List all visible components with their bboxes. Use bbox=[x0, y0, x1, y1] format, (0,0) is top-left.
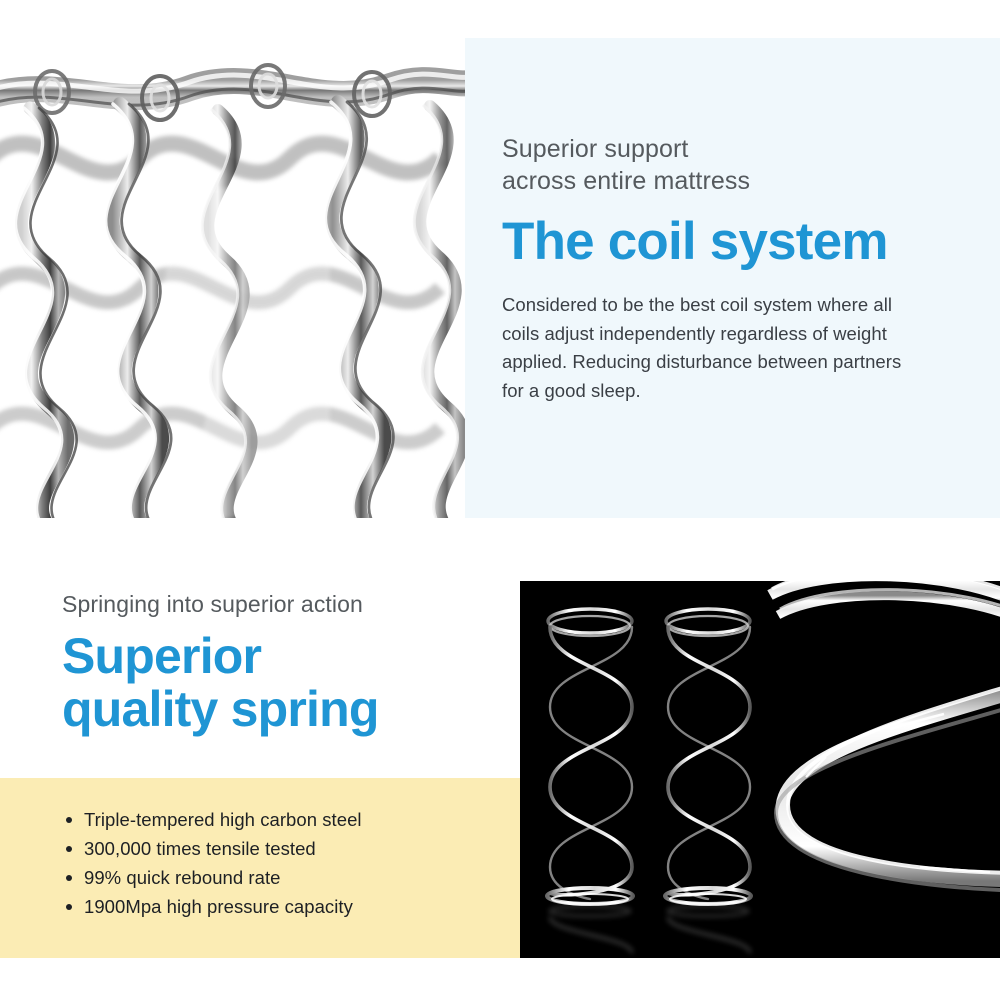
coil-system-copy: Superior support across entire mattress … bbox=[502, 133, 962, 405]
coil-system-section: Superior support across entire mattress … bbox=[0, 38, 1000, 518]
quality-spring-headline: Superior quality spring bbox=[62, 630, 502, 736]
coil-system-description: Considered to be the best coil system wh… bbox=[502, 291, 902, 405]
spring-photo-black bbox=[520, 581, 1000, 958]
coil-system-text-panel: Superior support across entire mattress … bbox=[465, 38, 1000, 518]
coil-system-headline: The coil system bbox=[502, 213, 962, 271]
list-item: 1900Mpa high pressure capacity bbox=[62, 892, 502, 921]
product-feature-graphic: Superior support across entire mattress … bbox=[0, 0, 1000, 1000]
coil-system-photo bbox=[0, 38, 465, 518]
list-item: 99% quick rebound rate bbox=[62, 863, 502, 892]
quality-spring-copy: Springing into superior action Superior … bbox=[62, 589, 502, 736]
list-item: Triple-tempered high carbon steel bbox=[62, 805, 502, 834]
quality-spring-text-panel: Springing into superior action Superior … bbox=[0, 581, 520, 958]
list-item: 300,000 times tensile tested bbox=[62, 834, 502, 863]
coil-system-eyebrow: Superior support across entire mattress bbox=[502, 133, 962, 197]
quality-spring-eyebrow: Springing into superior action bbox=[62, 589, 502, 619]
quality-spring-section: Springing into superior action Superior … bbox=[0, 581, 1000, 958]
spring-feature-list: Triple-tempered high carbon steel 300,00… bbox=[62, 805, 502, 921]
